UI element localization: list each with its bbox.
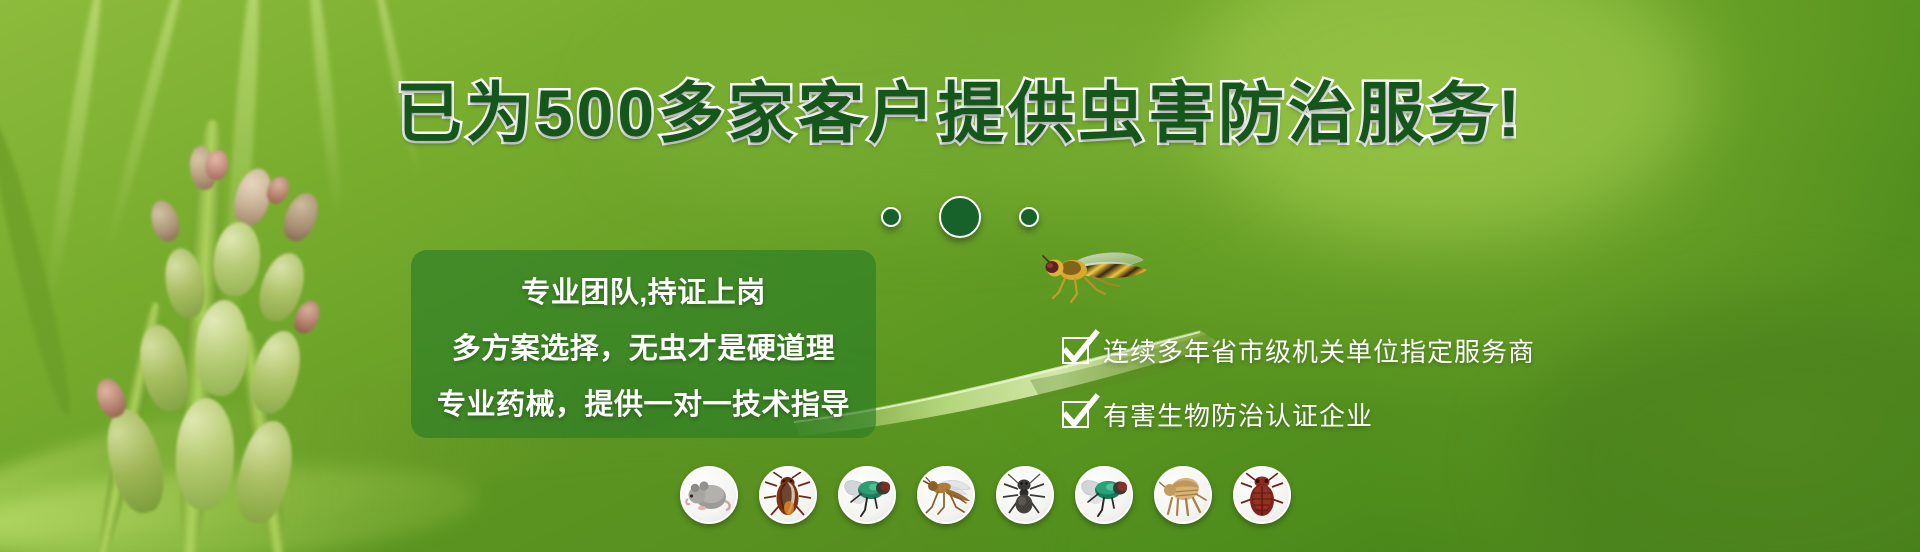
background-glow xyxy=(1520,300,1920,552)
rat-icon[interactable] xyxy=(680,466,738,524)
cockroach-icon[interactable] xyxy=(759,466,817,524)
hoverfly-on-leaf-icon xyxy=(1035,248,1165,308)
claim-line-2: 多方案选择，无虫才是硬道理 xyxy=(429,325,858,367)
bedbug-icon[interactable] xyxy=(1233,466,1291,524)
certification-bullets: 连续多年省市级机关单位指定服务商 有害生物防治认证企业 xyxy=(1062,332,1535,433)
list-item: 连续多年省市级机关单位指定服务商 xyxy=(1062,332,1535,369)
claims-panel: 专业团队,持证上岗 多方案选择，无虫才是硬道理 专业药械，提供一对一技术指导 xyxy=(411,250,876,438)
page-title: 已为500多家客户提供虫害防治服务! xyxy=(0,78,1920,149)
mosquito-icon[interactable] xyxy=(917,466,975,524)
claim-line-1: 专业团队,持证上岗 xyxy=(429,269,858,311)
dot-large-center xyxy=(939,196,981,238)
bullet-label: 连续多年省市级机关单位指定服务商 xyxy=(1103,332,1535,369)
pest-icon-row xyxy=(680,466,1291,524)
promo-banner: 已为500多家客户提供虫害防治服务! 专业团队,持证上岗 多方案选择，无虫才是硬… xyxy=(0,0,1920,552)
dot-small-left xyxy=(881,207,901,227)
ant-icon[interactable] xyxy=(996,466,1054,524)
page-title-text: 已为500多家客户提供虫害防治服务! xyxy=(396,76,1524,150)
blowfly-icon[interactable] xyxy=(838,466,896,524)
decorative-dots xyxy=(0,196,1920,238)
list-item: 有害生物防治认证企业 xyxy=(1062,396,1535,433)
dot-small-right xyxy=(1019,207,1039,227)
flea-icon[interactable] xyxy=(1154,466,1212,524)
checkbox-checked-icon xyxy=(1062,337,1089,364)
claim-line-3: 专业药械，提供一对一技术指导 xyxy=(429,381,858,423)
greenbottle-fly-icon[interactable] xyxy=(1075,466,1133,524)
bullet-label: 有害生物防治认证企业 xyxy=(1103,396,1373,433)
checkbox-checked-icon xyxy=(1062,401,1089,428)
